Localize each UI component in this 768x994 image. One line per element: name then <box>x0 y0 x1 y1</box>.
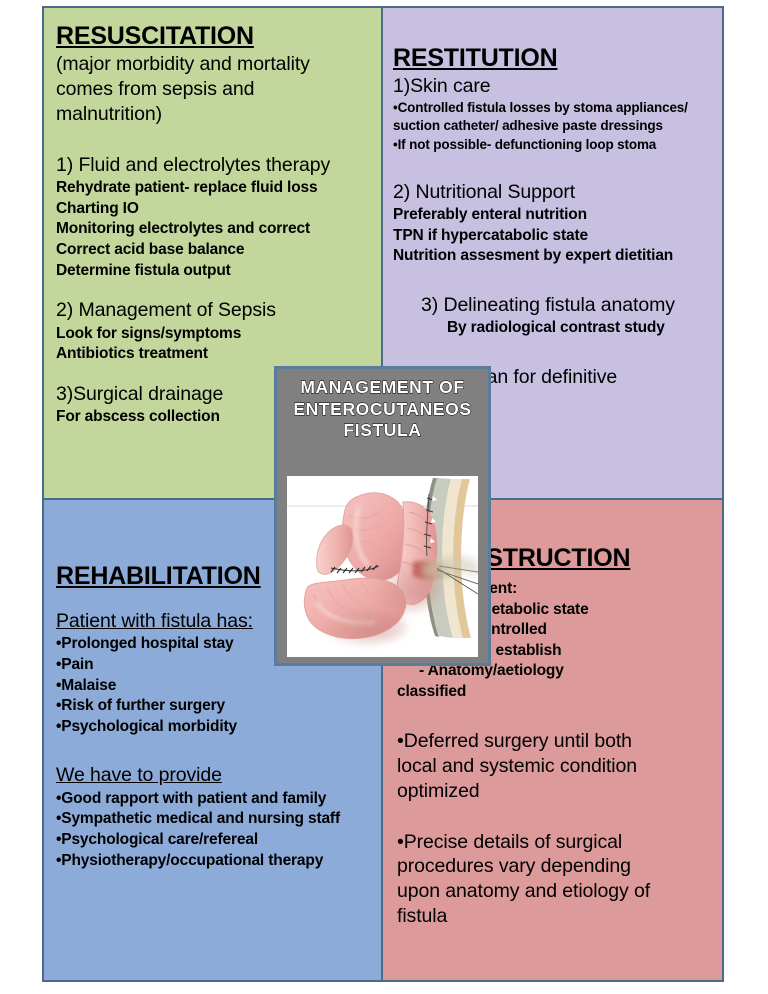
spacer <box>397 804 714 830</box>
resuscitation-subtitle-line-2: comes from sepsis and <box>56 77 371 102</box>
rehabilitation-group-2-point-1: •Sympathetic medical and nursing staff <box>56 809 373 830</box>
center-title-line-2: ENTEROCUTANEOS <box>281 399 484 421</box>
restitution-item-1-point-0: •Controlled fistula losses by stoma appl… <box>393 99 714 117</box>
restitution-item-2-title: 2) Nutritional Support <box>393 180 714 205</box>
restitution-item-3-point-0: By radiological contrast study <box>393 318 714 339</box>
restitution-item-2-point-2: Nutrition assesment by expert dietitian <box>393 246 714 267</box>
rehabilitation-group-2-point-3: •Physiotherapy/occupational therapy <box>56 851 373 872</box>
spacer <box>393 339 714 365</box>
resuscitation-item-2-title: 2) Management of Sepsis <box>56 298 371 323</box>
spacer <box>56 127 371 153</box>
rehabilitation-group-2-point-0: •Good rapport with patient and family <box>56 789 373 810</box>
resuscitation-item-1-point-0: Rehydrate patient- replace fluid loss <box>56 178 371 199</box>
resuscitation-heading: RESUSCITATION <box>56 22 371 50</box>
reconstruction-para-2-line-2: upon anatomy and etiology of <box>397 879 714 904</box>
spacer <box>397 703 714 729</box>
resuscitation-item-1-title: 1) Fluid and electrolytes therapy <box>56 153 371 178</box>
center-card-title: MANAGEMENT OF ENTEROCUTANEOS FISTULA <box>281 377 484 442</box>
restitution-item-2-point-0: Preferably enteral nutrition <box>393 205 714 226</box>
rehabilitation-group-2-point-2: •Psychological care/refereal <box>56 830 373 851</box>
restitution-item-1-point-1: suction catheter/ adhesive paste dressin… <box>393 117 714 135</box>
resuscitation-subtitle-line-3: malnutrition) <box>56 102 371 127</box>
center-title-line-1: MANAGEMENT OF <box>281 377 484 399</box>
resuscitation-item-1-point-3: Correct acid base balance <box>56 240 371 261</box>
restitution-item-2-point-1: TPN if hypercatabolic state <box>393 226 714 247</box>
enterocutaneous-fistula-illustration <box>287 476 478 657</box>
reconstruction-para-2-line-0: •Precise details of surgical <box>397 830 714 855</box>
resuscitation-item-2-point-1: Antibiotics treatment <box>56 344 371 365</box>
resuscitation-item-2-point-0: Look for signs/symptoms <box>56 324 371 345</box>
poster-frame: RESUSCITATION (major morbidity and morta… <box>42 6 724 982</box>
reconstruction-requirement-tail: classified <box>397 682 714 703</box>
spacer <box>393 267 714 293</box>
rehabilitation-group-1-point-4: •Psychological morbidity <box>56 717 373 738</box>
reconstruction-para-1-line-2: optimized <box>397 779 714 804</box>
rehabilitation-group-1-point-3: •Risk of further surgery <box>56 696 373 717</box>
center-image-card: MANAGEMENT OF ENTEROCUTANEOS FISTULA <box>274 366 491 666</box>
restitution-item-1-point-2: •If not possible- defunctioning loop sto… <box>393 136 714 154</box>
restitution-heading: RESTITUTION <box>393 44 714 72</box>
restitution-item-1-title: 1)Skin care <box>393 74 714 99</box>
rehabilitation-group-2-title: We have to provide <box>56 763 373 788</box>
reconstruction-para-2-line-1: procedures vary depending <box>397 854 714 879</box>
resuscitation-item-1-point-4: Determine fistula output <box>56 261 371 282</box>
spacer <box>393 154 714 180</box>
reconstruction-para-2-line-3: fistula <box>397 904 714 929</box>
resuscitation-subtitle-line-1: (major morbidity and mortality <box>56 52 371 77</box>
spacer <box>56 281 371 298</box>
center-title-line-3: FISTULA <box>281 420 484 442</box>
resuscitation-item-1-point-1: Charting IO <box>56 199 371 220</box>
restitution-item-3-title: 3) Delineating fistula anatomy <box>393 293 714 318</box>
reconstruction-para-1-line-0: •Deferred surgery until both <box>397 729 714 754</box>
rehabilitation-group-1-point-2: •Malaise <box>56 676 373 697</box>
spacer <box>56 737 373 763</box>
reconstruction-para-1-line-1: local and systemic condition <box>397 754 714 779</box>
resuscitation-item-1-point-2: Monitoring electrolytes and correct <box>56 219 371 240</box>
